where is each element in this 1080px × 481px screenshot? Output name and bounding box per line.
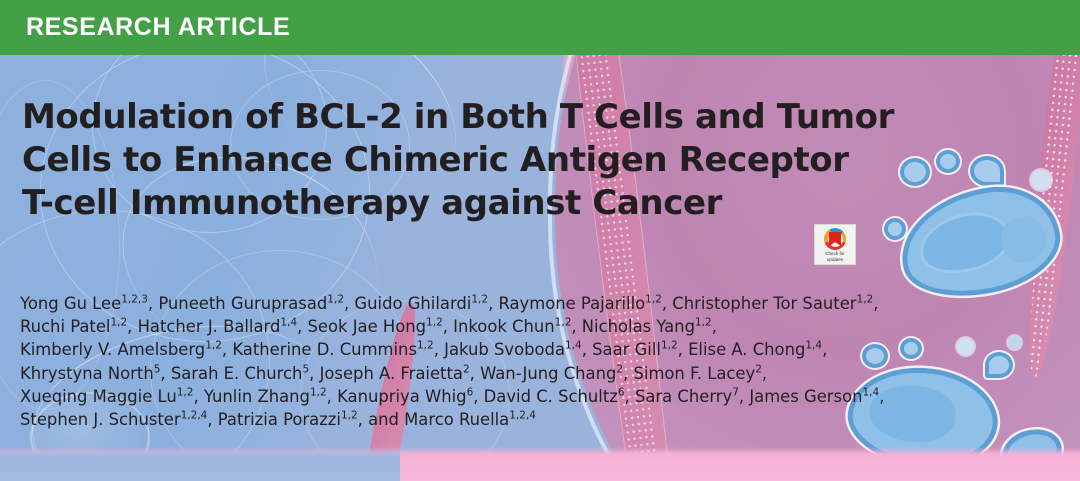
author-line: Yong Gu Lee1,2,3, Puneeth Guruprasad1,2,… bbox=[20, 292, 1060, 315]
author-separator: , bbox=[582, 340, 592, 359]
author-affiliation-marker: 1,2,3 bbox=[121, 294, 148, 306]
author-affiliation-marker: 1,2 bbox=[555, 317, 572, 329]
author-separator: , bbox=[160, 364, 170, 383]
author-name[interactable]: Simon F. Lacey bbox=[633, 364, 755, 383]
author-affiliation-marker: 1,2 bbox=[471, 294, 488, 306]
author-name[interactable]: Raymone Pajarillo bbox=[498, 294, 645, 313]
page-title: Modulation of BCL-2 in Both T Cells and … bbox=[22, 96, 922, 225]
artwork-cell-nub bbox=[970, 156, 1004, 186]
crossmark-caption: Check for updates bbox=[825, 251, 845, 263]
author-separator: , bbox=[873, 294, 878, 313]
author-separator: , bbox=[193, 387, 203, 406]
author-name[interactable]: Christopher Tor Sauter bbox=[672, 294, 856, 313]
artwork-cell-nub bbox=[936, 150, 960, 173]
author-affiliation-marker: 2 bbox=[755, 363, 762, 375]
author-affiliation-marker: 1,2 bbox=[310, 386, 327, 398]
author-separator: , bbox=[739, 387, 749, 406]
author-affiliation-marker: 1,2 bbox=[327, 294, 344, 306]
author-name[interactable]: Yunlin Zhang bbox=[204, 387, 310, 406]
author-name[interactable]: Guido Ghilardi bbox=[354, 294, 471, 313]
author-separator: , bbox=[297, 317, 307, 336]
author-line: Stephen J. Schuster1,2,4, Patrizia Poraz… bbox=[20, 408, 1060, 431]
author-separator: , bbox=[344, 294, 354, 313]
author-separator: , bbox=[712, 317, 717, 336]
author-separator: , bbox=[327, 387, 337, 406]
author-affiliation-marker: 1,2,4 bbox=[181, 410, 208, 422]
crossmark-caption-line1: Check for bbox=[825, 251, 845, 256]
author-affiliation-marker: 1,2 bbox=[177, 386, 194, 398]
author-name[interactable]: Marco Ruella bbox=[404, 410, 509, 429]
author-separator: , bbox=[879, 387, 884, 406]
author-affiliation-marker: 1,4 bbox=[280, 317, 297, 329]
author-separator: , bbox=[623, 364, 633, 383]
author-name[interactable]: James Gerson bbox=[749, 387, 862, 406]
author-affiliation-marker: 1,4 bbox=[565, 340, 582, 352]
artwork-bottom-band-left bbox=[0, 447, 400, 481]
author-name[interactable]: Xueqing Maggie Lu bbox=[20, 387, 177, 406]
author-affiliation-marker: 7 bbox=[732, 386, 739, 398]
author-name[interactable]: Kanupriya Whig bbox=[337, 387, 466, 406]
author-name[interactable]: Nicholas Yang bbox=[582, 317, 695, 336]
author-name[interactable]: Joseph A. Fraietta bbox=[320, 364, 463, 383]
author-separator: , bbox=[443, 317, 453, 336]
author-name[interactable]: Katherine D. Cummins bbox=[232, 340, 417, 359]
author-separator: , bbox=[309, 364, 319, 383]
author-separator: , bbox=[148, 294, 158, 313]
research-article-banner: RESEARCH ARTICLE bbox=[0, 0, 1080, 55]
author-affiliation-marker: 1,2 bbox=[341, 410, 358, 422]
author-name[interactable]: Wan-Jung Chang bbox=[480, 364, 616, 383]
author-separator: , and bbox=[358, 410, 404, 429]
author-affiliation-marker: 1,2 bbox=[661, 340, 678, 352]
author-affiliation-marker: 1,2 bbox=[426, 317, 443, 329]
author-line: Kimberly V. Amelsberg1,2, Katherine D. C… bbox=[20, 338, 1060, 361]
author-line: Khrystyna North5, Sarah E. Church5, Jose… bbox=[20, 362, 1060, 385]
author-name[interactable]: Ruchi Patel bbox=[20, 317, 110, 336]
author-name[interactable]: Seok Jae Hong bbox=[308, 317, 427, 336]
author-affiliation-marker: 1,2,4 bbox=[509, 410, 536, 422]
author-separator: , bbox=[488, 294, 498, 313]
author-name[interactable]: Sara Cherry bbox=[635, 387, 732, 406]
author-affiliation-marker: 1,2 bbox=[110, 317, 127, 329]
title-line-3: T-cell Immunotherapy against Cancer bbox=[22, 182, 922, 225]
author-affiliation-marker: 1,2 bbox=[695, 317, 712, 329]
author-separator: , bbox=[571, 317, 581, 336]
author-separator: , bbox=[762, 364, 767, 383]
author-name[interactable]: Yong Gu Lee bbox=[20, 294, 121, 313]
author-affiliation-marker: 1,2 bbox=[205, 340, 222, 352]
artwork-vesicle bbox=[1031, 170, 1051, 190]
author-separator: , bbox=[822, 340, 827, 359]
author-name[interactable]: Inkook Chun bbox=[453, 317, 555, 336]
author-separator: , bbox=[678, 340, 688, 359]
author-separator: , bbox=[473, 387, 483, 406]
author-name[interactable]: Jakub Svoboda bbox=[444, 340, 565, 359]
author-name[interactable]: Kimberly V. Amelsberg bbox=[20, 340, 205, 359]
author-list: Yong Gu Lee1,2,3, Puneeth Guruprasad1,2,… bbox=[20, 292, 1060, 431]
author-name[interactable]: Patrizia Porazzi bbox=[218, 410, 341, 429]
author-separator: , bbox=[662, 294, 672, 313]
banner-label: RESEARCH ARTICLE bbox=[26, 13, 290, 42]
author-name[interactable]: Saar Gill bbox=[592, 340, 661, 359]
author-affiliation-marker: 1,2 bbox=[645, 294, 662, 306]
crossmark-caption-line2: updates bbox=[827, 257, 843, 262]
author-separator: , bbox=[434, 340, 444, 359]
author-name[interactable]: Puneeth Guruprasad bbox=[158, 294, 327, 313]
author-separator: , bbox=[222, 340, 232, 359]
author-name[interactable]: Hatcher J. Ballard bbox=[138, 317, 281, 336]
author-affiliation-marker: 1,4 bbox=[805, 340, 822, 352]
author-name[interactable]: David C. Schultz bbox=[484, 387, 618, 406]
author-affiliation-marker: 6 bbox=[618, 386, 625, 398]
check-for-updates-button[interactable]: Check for updates bbox=[814, 224, 856, 265]
author-affiliation-marker: 2 bbox=[463, 363, 470, 375]
author-affiliation-marker: 1,2 bbox=[417, 340, 434, 352]
author-line: Xueqing Maggie Lu1,2, Yunlin Zhang1,2, K… bbox=[20, 385, 1060, 408]
article-header-page: RESEARCH ARTICLE Modulation of BCL-2 in … bbox=[0, 0, 1080, 481]
author-separator: , bbox=[625, 387, 635, 406]
author-name[interactable]: Sarah E. Church bbox=[171, 364, 303, 383]
author-name[interactable]: Stephen J. Schuster bbox=[20, 410, 181, 429]
author-separator: , bbox=[207, 410, 217, 429]
author-name[interactable]: Khrystyna North bbox=[20, 364, 154, 383]
author-line: Ruchi Patel1,2, Hatcher J. Ballard1,4, S… bbox=[20, 315, 1060, 338]
author-affiliation-marker: 1,2 bbox=[857, 294, 874, 306]
author-name[interactable]: Elise A. Chong bbox=[688, 340, 805, 359]
title-line-2: Cells to Enhance Chimeric Antigen Recept… bbox=[22, 139, 922, 182]
author-affiliation-marker: 1,4 bbox=[863, 386, 880, 398]
author-separator: , bbox=[470, 364, 480, 383]
author-separator: , bbox=[127, 317, 137, 336]
crossmark-icon bbox=[824, 228, 846, 250]
title-line-1: Modulation of BCL-2 in Both T Cells and … bbox=[22, 96, 922, 139]
